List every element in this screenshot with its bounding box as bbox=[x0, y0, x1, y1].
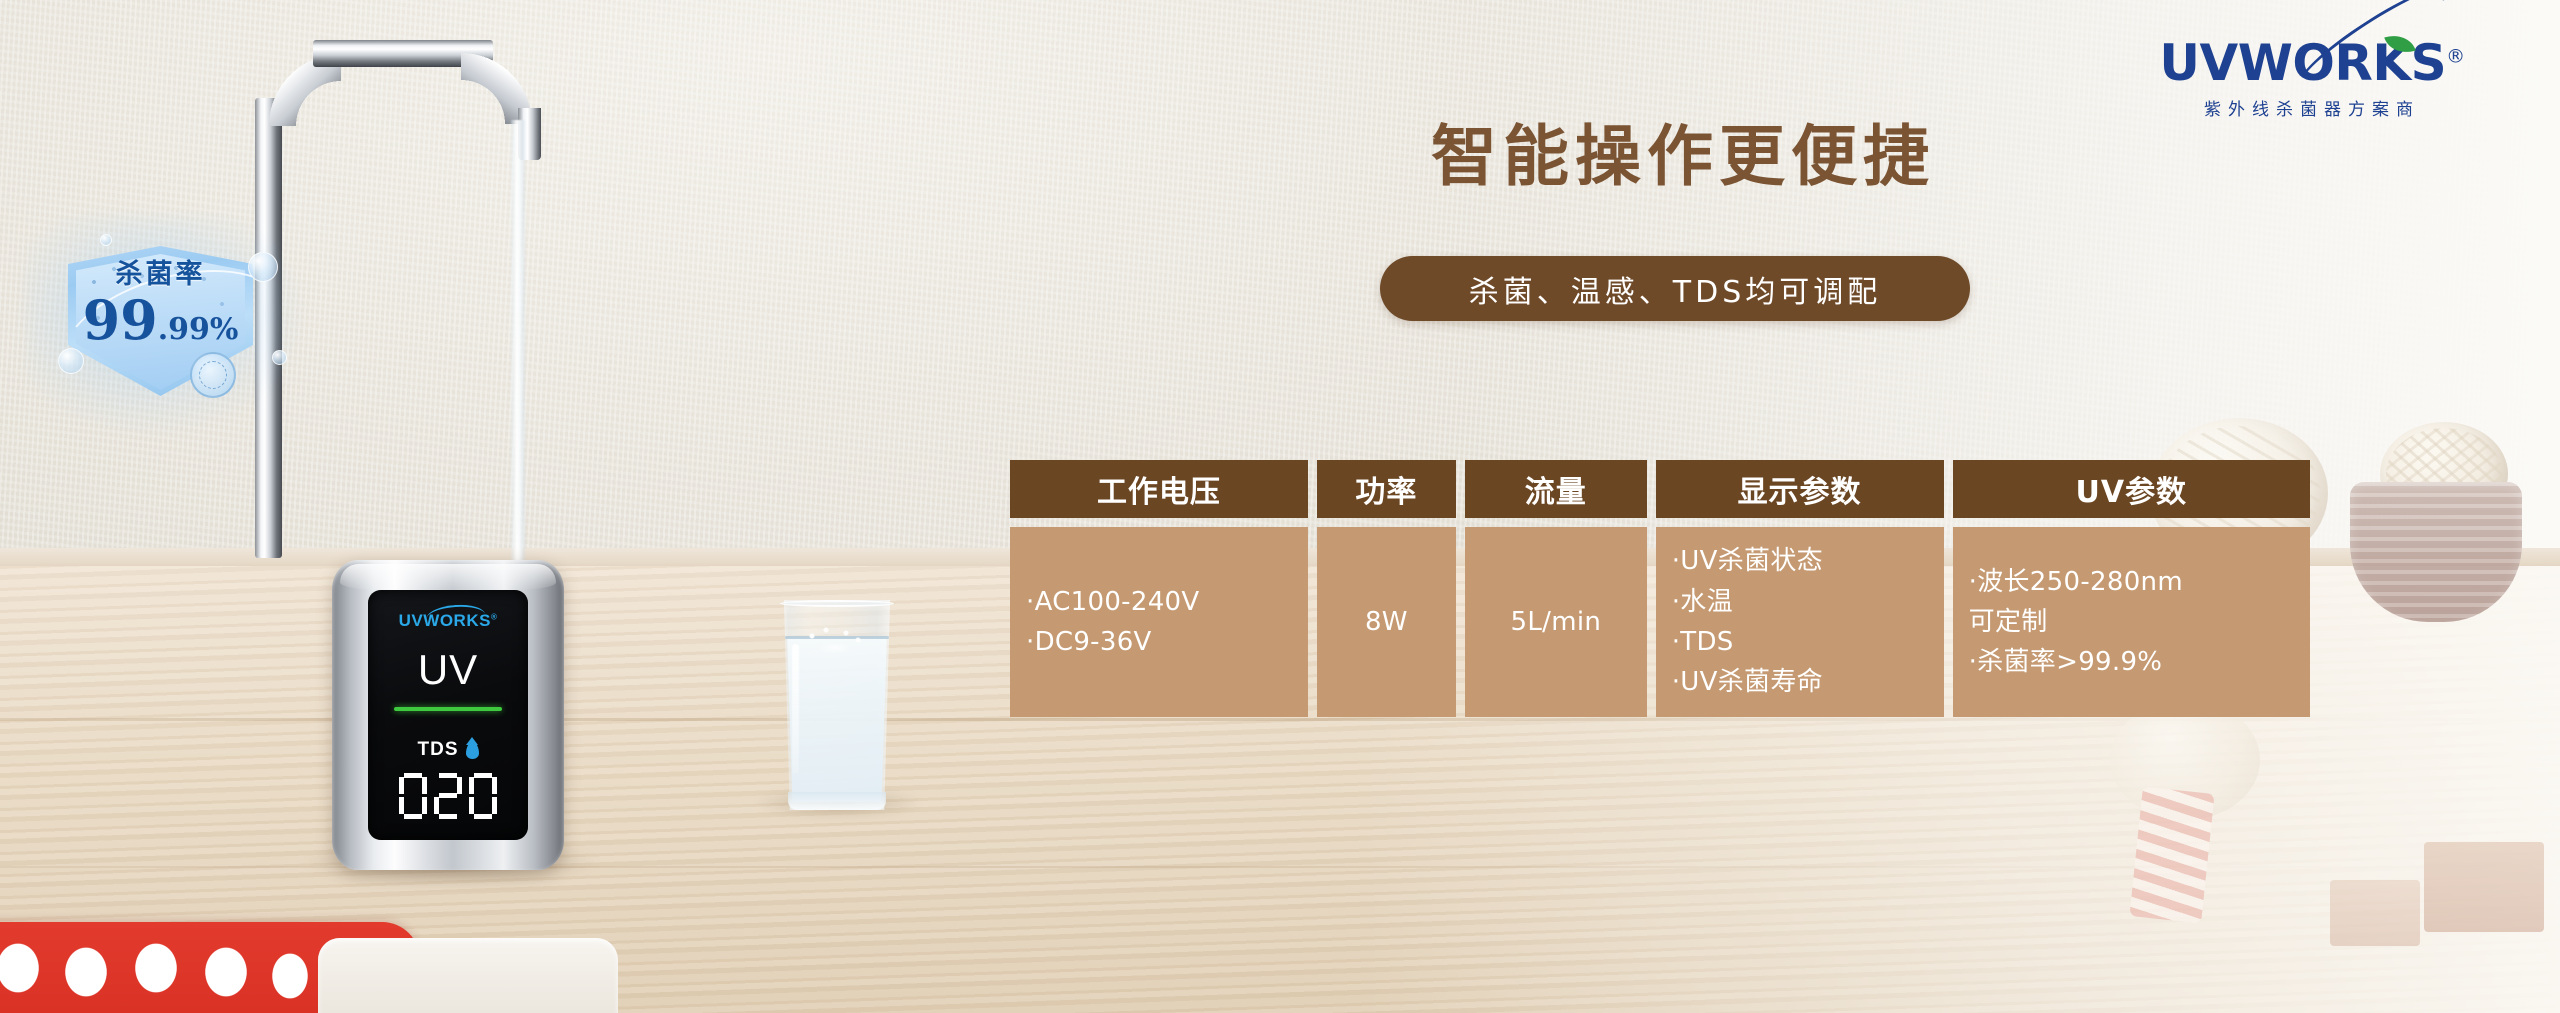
spec-line: ·水温 bbox=[1672, 582, 1928, 622]
spec-cell-voltage: ·AC100-240V ·DC9-36V bbox=[1010, 527, 1308, 717]
product-banner: UVWORKS® UV TDS bbox=[0, 0, 2560, 1013]
badge-percentage: 99 .99% bbox=[83, 293, 239, 347]
spec-table-body-row: ·AC100-240V ·DC9-36V 8W 5L/min ·UV杀菌状态 ·… bbox=[1010, 527, 2310, 717]
spec-line: ·DC9-36V bbox=[1026, 622, 1292, 662]
spec-cell-uv: ·波长250-280nm 可定制 ·杀菌率>99.9% bbox=[1953, 527, 2310, 717]
page-title: 智能操作更便捷 bbox=[1373, 122, 1993, 191]
glass-highlight bbox=[792, 644, 799, 774]
spec-header-voltage: 工作电压 bbox=[1010, 460, 1308, 518]
spec-line: ·UV杀菌状态 bbox=[1672, 541, 1928, 581]
registered-trademark-icon: ® bbox=[2446, 45, 2465, 67]
screen-tds-label: TDS bbox=[418, 739, 459, 761]
spec-header-uv: UV参数 bbox=[1953, 460, 2310, 518]
basket-weave-texture bbox=[2350, 482, 2522, 622]
uv-sterilizer-device: UVWORKS® UV TDS bbox=[332, 560, 564, 870]
device-display-screen: UVWORKS® UV TDS bbox=[368, 590, 528, 840]
screen-tds-row: TDS bbox=[418, 739, 479, 761]
seven-segment-digit-2 bbox=[434, 773, 462, 819]
seven-segment-digit-0 bbox=[399, 773, 427, 819]
badge-value-major: 99 bbox=[83, 293, 158, 347]
screen-mode-label: UV bbox=[418, 649, 478, 691]
spec-line: 可定制 bbox=[1969, 602, 2294, 642]
brand-wordmark: UVWORKS® bbox=[2159, 36, 2464, 90]
badge-value-minor: .99% bbox=[158, 315, 239, 345]
spec-header-power: 功率 bbox=[1317, 460, 1456, 518]
badge-text-group: 杀菌率 99 .99% bbox=[68, 252, 253, 347]
brand-tagline: 紫外线杀菌器方案商 bbox=[2126, 95, 2498, 120]
bubble-icon-2 bbox=[58, 348, 84, 374]
spec-line: ·波长250-280nm bbox=[1969, 562, 2294, 602]
bubble-icon-4 bbox=[100, 234, 112, 246]
striped-cloth-prop bbox=[2129, 787, 2214, 924]
device-top-highlight bbox=[340, 564, 556, 592]
glass-rim bbox=[780, 600, 894, 607]
plate-prop bbox=[318, 938, 618, 1013]
wood-block-prop-2 bbox=[2330, 880, 2420, 946]
germ-icon bbox=[190, 352, 236, 398]
glass-water-fill bbox=[784, 638, 890, 802]
spec-line: 8W bbox=[1365, 602, 1408, 642]
water-glass bbox=[778, 600, 896, 810]
spec-cell-flow: 5L/min bbox=[1465, 527, 1647, 717]
badge-label: 杀菌率 bbox=[116, 252, 206, 291]
spec-line: ·AC100-240V bbox=[1026, 582, 1292, 622]
spec-table-header-row: 工作电压 功率 流量 显示参数 UV参数 bbox=[1010, 460, 2310, 518]
spec-header-flow: 流量 bbox=[1465, 460, 1647, 518]
woven-basket bbox=[2350, 482, 2522, 622]
water-drop-icon bbox=[466, 742, 479, 759]
wood-block-prop bbox=[2424, 842, 2544, 932]
spec-table: 工作电压 功率 流量 显示参数 UV参数 ·AC100-240V ·DC9-36… bbox=[1010, 460, 2310, 717]
spec-line: 5L/min bbox=[1511, 602, 1602, 642]
glass-base bbox=[788, 792, 886, 810]
sterilization-rate-badge: 杀菌率 99 .99% bbox=[40, 230, 290, 420]
screen-brand-logo: UVWORKS® bbox=[399, 612, 498, 629]
spec-header-display: 显示参数 bbox=[1656, 460, 1944, 518]
spec-line: ·UV杀菌寿命 bbox=[1672, 662, 1928, 702]
screen-registered-mark: ® bbox=[491, 612, 497, 621]
spec-line: ·杀菌率>99.9% bbox=[1969, 642, 2294, 682]
bubble-icon-3 bbox=[272, 350, 287, 365]
water-splash bbox=[804, 626, 866, 656]
brand-logo-block: UVWORKS® 紫外线杀菌器方案商 bbox=[2126, 36, 2498, 120]
screen-tds-value bbox=[399, 773, 497, 819]
subtitle-pill: 杀菌、温感、TDS均可调配 bbox=[1380, 256, 1970, 321]
seven-segment-digit-0b bbox=[469, 773, 497, 819]
spec-cell-power: 8W bbox=[1317, 527, 1456, 717]
yarn-basket-prop bbox=[2336, 400, 2536, 630]
screen-status-bar bbox=[394, 707, 502, 711]
spec-cell-display: ·UV杀菌状态 ·水温 ·TDS ·UV杀菌寿命 bbox=[1656, 527, 1944, 717]
spec-line: ·TDS bbox=[1672, 622, 1928, 662]
